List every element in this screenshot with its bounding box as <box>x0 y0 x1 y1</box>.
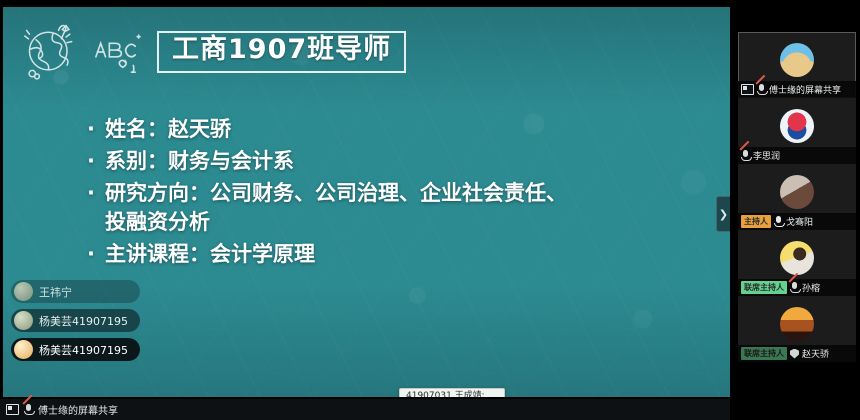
participant-rail[interactable]: 傅士缘的屏幕共享 李思润 主持人 <box>730 0 860 420</box>
reaction-chip-name: 王祎宁 <box>39 284 72 300</box>
abc-doodle-icon <box>91 28 143 76</box>
chat-caption-bubble: 41907031 王成靖: 谢谢老师 <box>399 388 505 397</box>
bullet-marker: · <box>87 115 95 145</box>
shield-icon <box>790 349 799 359</box>
screen-share-area: 工商1907班导师 · 姓名：赵天骄 · 系别：财务与会计系 · 研究方向：公司… <box>0 0 730 420</box>
screen-share-icon <box>6 404 19 415</box>
participant-tile[interactable]: 联席主持人 赵天骄 <box>738 296 856 362</box>
avatar <box>14 311 33 330</box>
cohost-badge: 联席主持人 <box>741 281 787 294</box>
bullet-item: · 系别：财务与会计系 <box>87 147 687 177</box>
presentation-slide: 工商1907班导师 · 姓名：赵天骄 · 系别：财务与会计系 · 研究方向：公司… <box>3 7 730 397</box>
mic-off-icon <box>757 84 766 95</box>
participant-namebar: 李思润 <box>738 147 856 164</box>
participant-namebar: 主持人 戈骞阳 <box>738 213 856 230</box>
participant-name: 孙榕 <box>802 281 820 294</box>
participant-name: 戈骞阳 <box>786 215 813 228</box>
screen-share-status-bar: 傅士缘的屏幕共享 <box>0 399 730 420</box>
mic-on-icon <box>774 216 783 227</box>
reaction-chip-list: 王祎宁 杨美芸41907195 杨美芸41907195 <box>11 280 140 361</box>
participant-name: 傅士缘的屏幕共享 <box>769 83 841 96</box>
slide-title-box: 工商1907班导师 <box>157 31 406 72</box>
reaction-chip: 王祎宁 <box>11 280 140 303</box>
bullet-marker: · <box>87 179 95 209</box>
avatar <box>14 282 33 301</box>
mic-off-icon <box>741 150 750 161</box>
participant-list: 傅士缘的屏幕共享 李思润 主持人 <box>738 32 860 362</box>
reaction-chip: 杨美芸41907195 <box>11 338 140 361</box>
chevron-right-icon: ❯ <box>719 208 728 221</box>
participant-namebar: 联席主持人 孙榕 <box>738 279 856 296</box>
participant-namebar: 联席主持人 赵天骄 <box>738 345 856 362</box>
screen-share-icon <box>741 84 754 95</box>
participant-namebar: 傅士缘的屏幕共享 <box>738 81 856 98</box>
reaction-chip-name: 杨美芸41907195 <box>39 342 128 358</box>
avatar <box>780 109 814 143</box>
mic-off-icon <box>24 404 33 415</box>
meeting-window: 工商1907班导师 · 姓名：赵天骄 · 系别：财务与会计系 · 研究方向：公司… <box>0 0 860 420</box>
avatar <box>780 307 814 341</box>
avatar <box>780 43 814 77</box>
bullet-marker: · <box>87 147 95 177</box>
caption-line-sender: 41907031 王成靖: <box>406 391 498 397</box>
avatar <box>780 241 814 275</box>
collapse-sidebar-button[interactable]: ❯ <box>716 196 730 232</box>
participant-tile[interactable]: 傅士缘的屏幕共享 <box>738 32 856 98</box>
bullet-text: 姓名：赵天骄 <box>105 117 231 141</box>
participant-name: 李思润 <box>753 149 780 162</box>
participant-tile[interactable]: 主持人 戈骞阳 <box>738 164 856 230</box>
reaction-chip: 杨美芸41907195 <box>11 309 140 332</box>
cohost-badge: 联席主持人 <box>741 347 787 360</box>
avatar <box>780 175 814 209</box>
bullet-text: 研究方向：公司财务、公司治理、企业社会责任、 <box>105 181 567 205</box>
mic-off-icon <box>790 282 799 293</box>
bullet-text: 系别：财务与会计系 <box>105 149 294 173</box>
reaction-chip-name: 杨美芸41907195 <box>39 313 128 329</box>
bullet-marker: · <box>87 240 95 270</box>
bullet-text: 主讲课程：会计学原理 <box>105 242 315 266</box>
participant-name: 赵天骄 <box>802 347 829 360</box>
bullet-text-continuation: 投融资分析 <box>105 208 687 238</box>
slide-header: 工商1907班导师 <box>19 21 406 83</box>
bullet-item: · 主讲课程：会计学原理 <box>87 240 687 270</box>
participant-tile[interactable]: 联席主持人 孙榕 <box>738 230 856 296</box>
host-badge: 主持人 <box>741 215 771 228</box>
avatar <box>14 340 33 359</box>
bullet-item: · 姓名：赵天骄 <box>87 115 687 145</box>
participant-tile[interactable]: 李思润 <box>738 98 856 164</box>
globe-doodle-icon <box>19 21 85 83</box>
share-bar-label: 傅士缘的屏幕共享 <box>38 402 118 417</box>
bullet-item: · 研究方向：公司财务、公司治理、企业社会责任、 投融资分析 <box>87 179 687 239</box>
slide-bullet-list: · 姓名：赵天骄 · 系别：财务与会计系 · 研究方向：公司财务、公司治理、企业… <box>87 115 687 272</box>
slide-title: 工商1907班导师 <box>172 35 391 65</box>
